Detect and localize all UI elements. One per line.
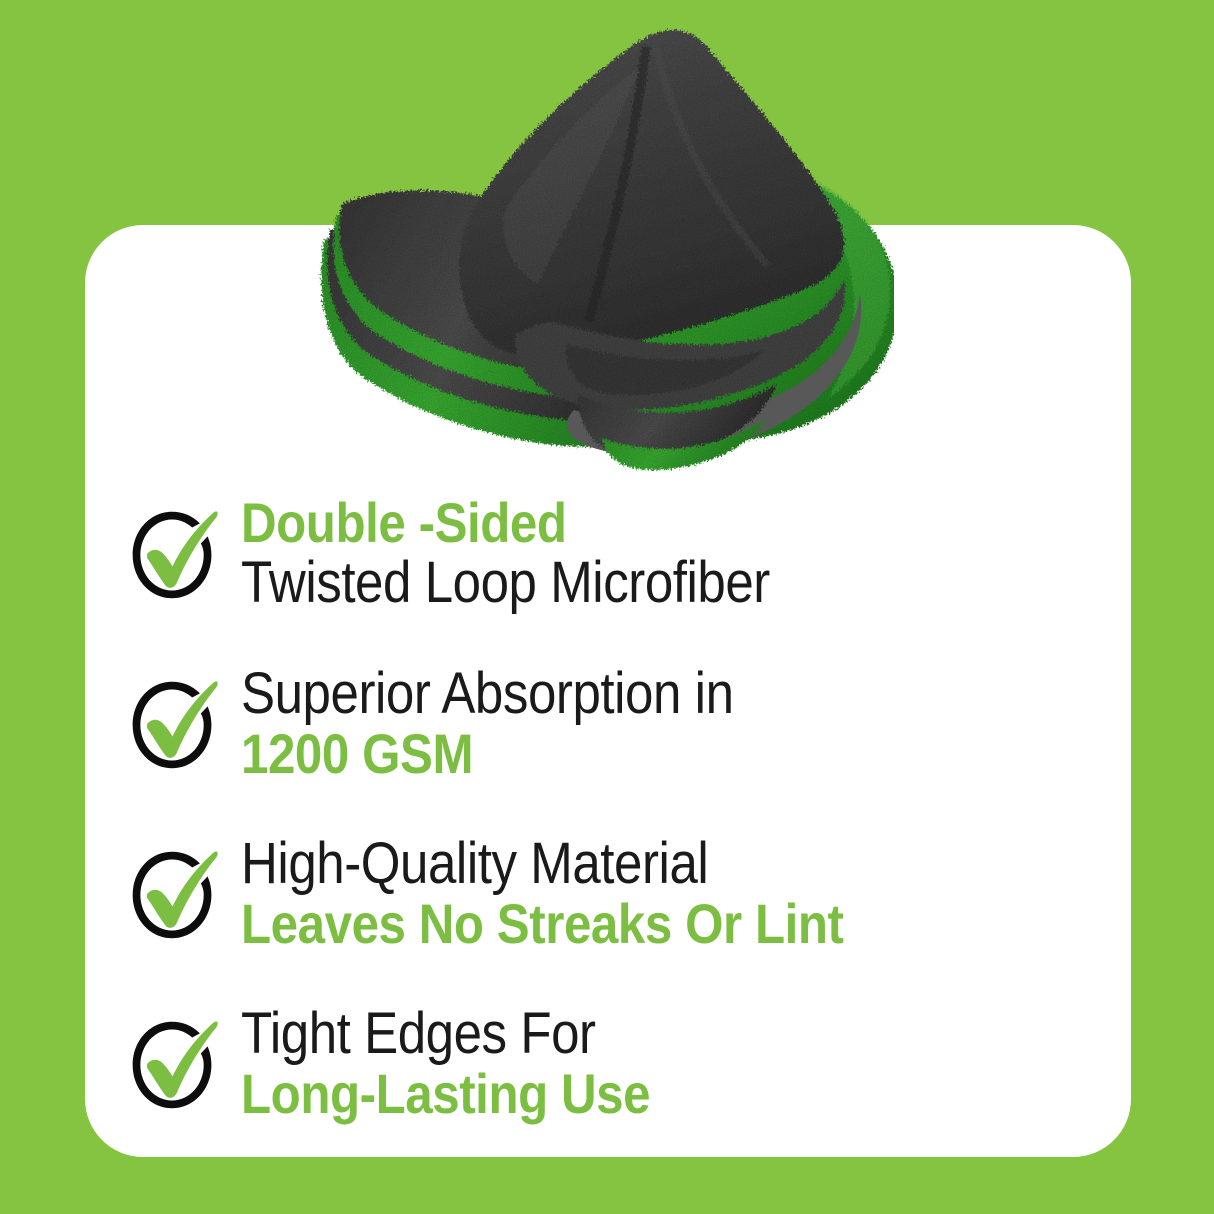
feature-item: Tight Edges For Long-Lasting Use: [85, 980, 1131, 1150]
check-circle-icon: [125, 1017, 221, 1113]
feature-line: Double -Sided: [241, 494, 1024, 551]
feature-line: Long-Lasting Use: [241, 1065, 1024, 1122]
feature-item: Superior Absorption in 1200 GSM: [85, 640, 1131, 810]
feature-text: Tight Edges For Long-Lasting Use: [241, 1004, 1131, 1126]
feature-line: Leaves No Streaks Or Lint: [241, 895, 1024, 952]
check-circle-icon: [125, 677, 221, 773]
feature-text: Superior Absorption in 1200 GSM: [241, 664, 1131, 786]
feature-item: Double -Sided Twisted Loop Microfiber: [85, 470, 1131, 640]
feature-line: Tight Edges For: [241, 1004, 1024, 1063]
feature-text: Double -Sided Twisted Loop Microfiber: [241, 494, 1131, 616]
feature-item: High-Quality Material Leaves No Streaks …: [85, 810, 1131, 980]
feature-list: Double -Sided Twisted Loop Microfiber Su…: [85, 470, 1131, 1150]
feature-line: 1200 GSM: [241, 725, 1024, 782]
check-circle-icon: [125, 847, 221, 943]
feature-line: Superior Absorption in: [241, 664, 1024, 723]
feature-line: Twisted Loop Microfiber: [241, 553, 1024, 612]
feature-line: High-Quality Material: [241, 834, 1024, 893]
check-circle-icon: [125, 507, 221, 603]
product-image: [316, 22, 894, 474]
feature-text: High-Quality Material Leaves No Streaks …: [241, 834, 1131, 956]
